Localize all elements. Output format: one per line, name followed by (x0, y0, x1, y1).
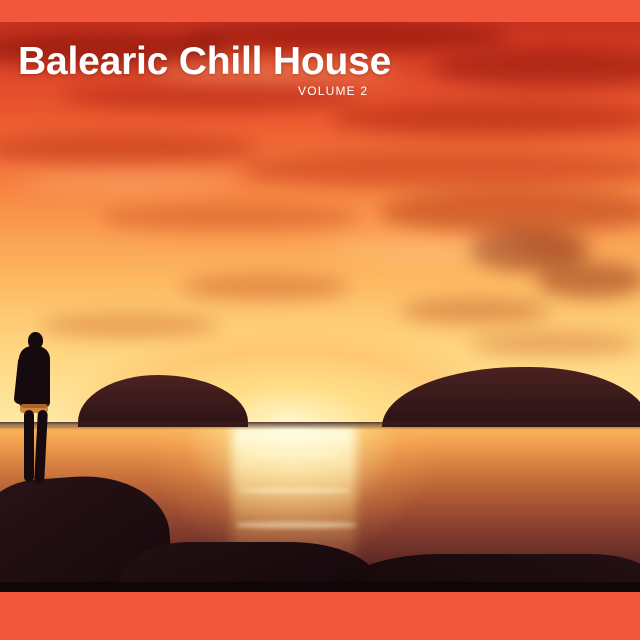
cloud-highlight (20, 172, 240, 190)
album-cover: Balearic Chill House VOLUME 2 (0, 0, 640, 640)
water-glint (240, 488, 350, 493)
cloud-streak (330, 102, 640, 136)
person-silhouette (12, 332, 56, 492)
cloud-highlight (330, 242, 530, 258)
far-shoreline (0, 422, 640, 430)
cloud-streak (240, 152, 640, 188)
album-volume: VOLUME 2 (18, 84, 391, 98)
cloud-puff (180, 274, 350, 300)
cloud-puff (40, 314, 220, 338)
water-glint (250, 452, 340, 457)
cloud-puff (400, 298, 550, 324)
cloud-puff (536, 262, 640, 298)
album-title: Balearic Chill House (18, 40, 391, 84)
title-block: Balearic Chill House VOLUME 2 (18, 40, 391, 98)
cover-photo: Balearic Chill House VOLUME 2 (0, 22, 640, 592)
top-color-band (0, 0, 640, 22)
cloud-streak (100, 204, 360, 232)
cloud-streak (380, 190, 640, 234)
foreground-rock (0, 582, 640, 592)
cloud-puff (470, 332, 640, 356)
water-glint (236, 522, 356, 528)
silhouette-leg (34, 410, 48, 484)
bottom-color-band (0, 592, 640, 640)
silhouette-leg (24, 410, 34, 482)
